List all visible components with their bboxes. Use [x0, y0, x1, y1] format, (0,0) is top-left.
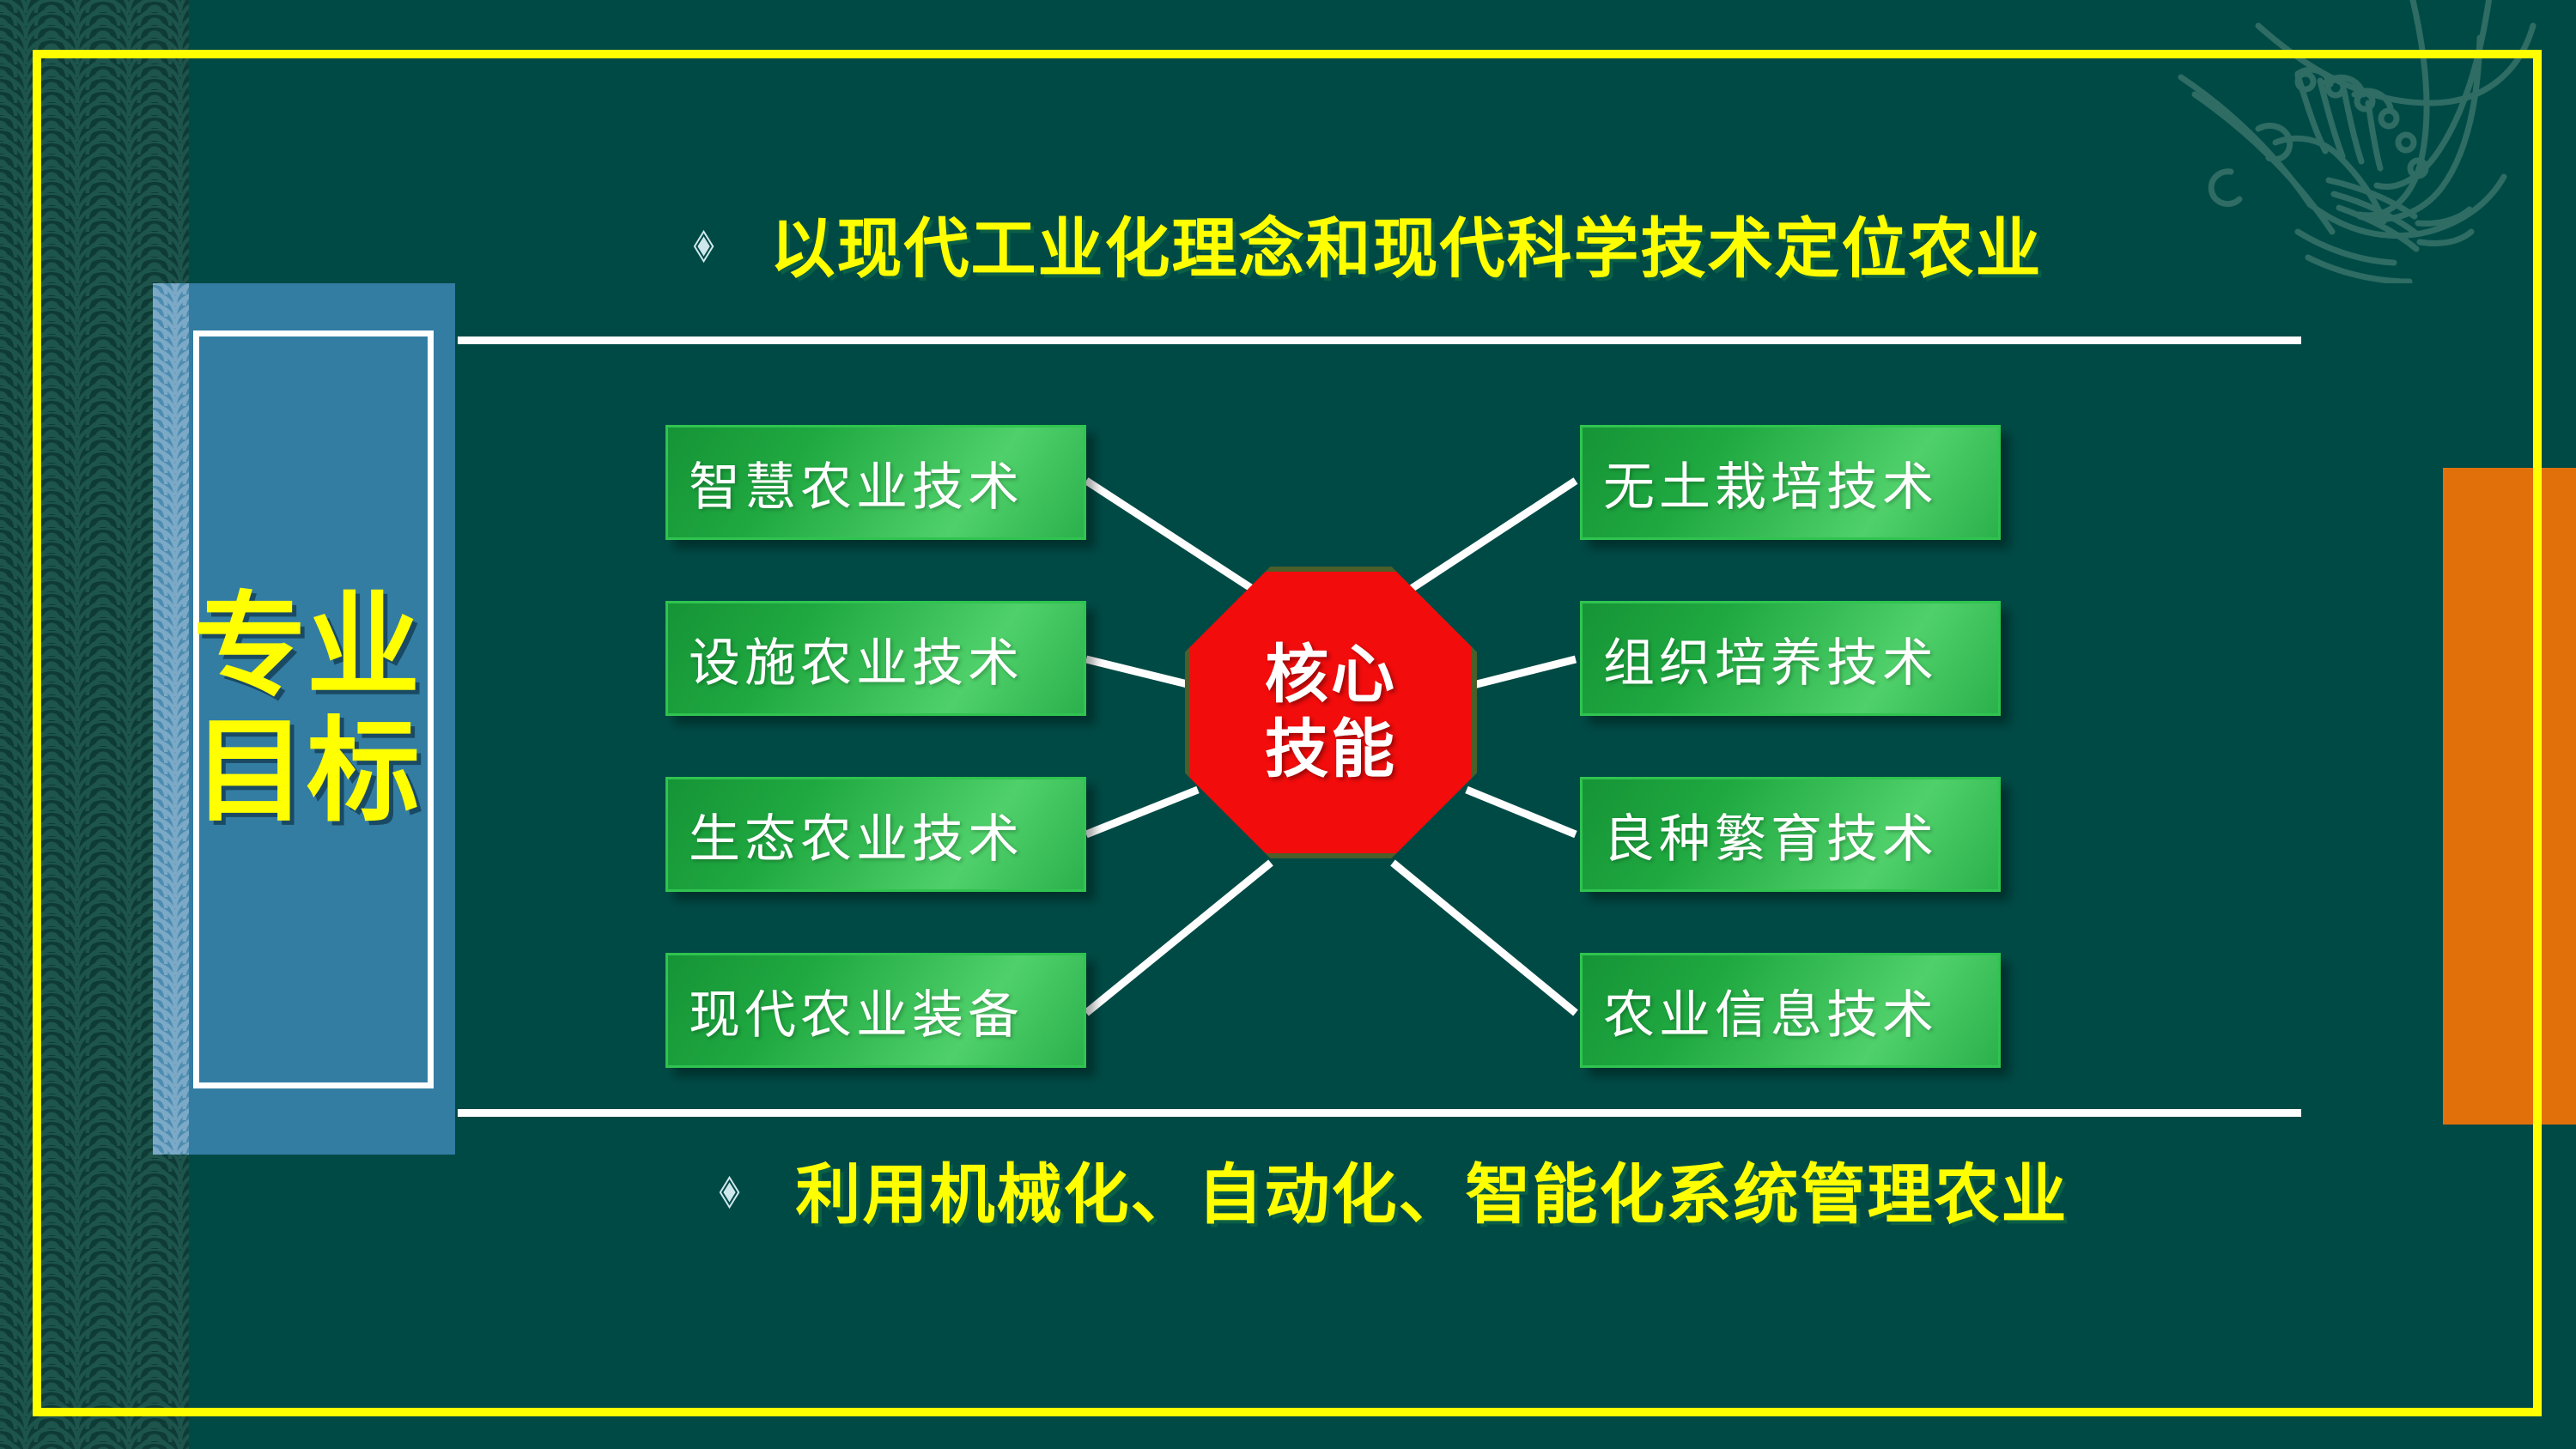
connector-right-4 — [1393, 863, 1576, 1013]
core-skill-node[interactable]: 核心 技能 — [1185, 567, 1477, 858]
skill-box-left-3[interactable]: 生态农业技术 — [665, 777, 1086, 892]
core-skill-label: 核心 技能 — [1185, 567, 1477, 858]
skill-box-label: 农业信息技术 — [1603, 973, 1938, 1048]
skill-box-label: 现代农业装备 — [689, 973, 1024, 1048]
skill-box-right-1[interactable]: 无土栽培技术 — [1580, 425, 2001, 540]
skill-box-label: 组织培养技术 — [1603, 621, 1938, 696]
skill-box-left-1[interactable]: 智慧农业技术 — [665, 425, 1086, 540]
skill-box-left-2[interactable]: 设施农业技术 — [665, 601, 1086, 716]
connector-left-4 — [1086, 863, 1271, 1013]
connector-left-3 — [1086, 790, 1198, 834]
skill-box-label: 智慧农业技术 — [689, 446, 1024, 520]
skill-box-right-4[interactable]: 农业信息技术 — [1580, 953, 2001, 1068]
connector-right-2 — [1467, 659, 1576, 687]
slide-canvas: 专业目标 ◈ 以现代工业化理念和现代科学技术定位农业 ◈ 利用机械化、自动化、智… — [0, 0, 2576, 1449]
skill-box-label: 无土栽培技术 — [1603, 446, 1938, 520]
skill-box-label: 良种繁育技术 — [1603, 797, 1938, 872]
skill-box-label: 设施农业技术 — [689, 621, 1024, 696]
skill-box-right-2[interactable]: 组织培养技术 — [1580, 601, 2001, 716]
connector-left-2 — [1086, 659, 1198, 687]
connector-right-3 — [1467, 790, 1576, 834]
skill-box-label: 生态农业技术 — [689, 797, 1024, 872]
skill-box-right-3[interactable]: 良种繁育技术 — [1580, 777, 2001, 892]
skill-box-left-4[interactable]: 现代农业装备 — [665, 953, 1086, 1068]
